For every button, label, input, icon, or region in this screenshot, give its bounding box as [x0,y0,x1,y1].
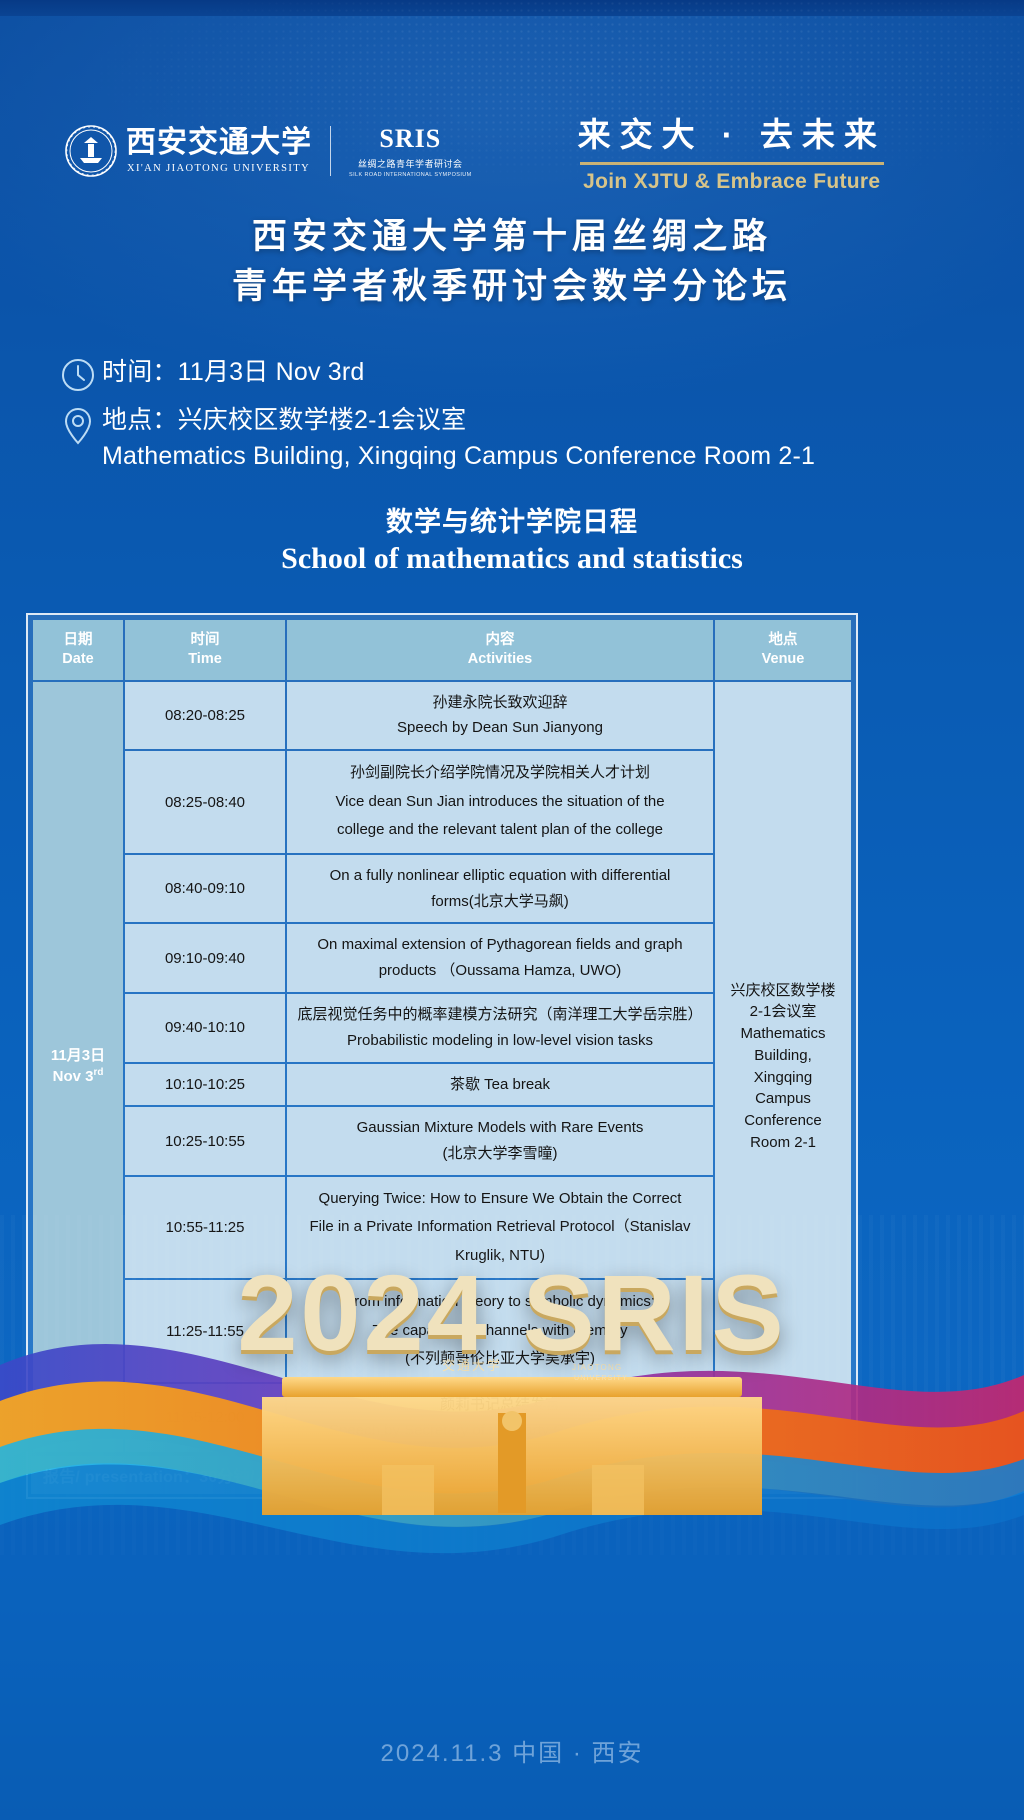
event-venue-row: 地点：兴庆校区数学楼2-1会议室 Mathematics Building, X… [54,403,974,474]
venue-line: Room 2-1 [719,1132,847,1154]
column-header-activities: 内容 Activities [287,620,713,680]
cell-time: 09:10-09:40 [125,924,285,992]
table-header-row: 日期 Date 时间 Time 内容 Activities 地点 Venue [33,620,851,680]
event-venue-text: 地点：兴庆校区数学楼2-1会议室 Mathematics Building, X… [102,403,815,474]
cell-time: 10:10-10:25 [125,1064,285,1106]
cell-time: 08:40-09:10 [125,855,285,923]
xjtu-logo-lockup: 西安交通大学 XI'AN JIAOTONG UNIVERSITY SRIS 丝绸… [64,124,472,178]
activity-line: college and the relevant talent plan of … [297,816,703,845]
venue-line: Building, [719,1045,847,1067]
event-time-text: 时间：11月3日 Nov 3rd [102,355,365,391]
cell-activity: 茶歇 Tea break [287,1064,713,1106]
slogan-cn: 来交大 · 去未来 [578,108,886,156]
venue-line: 兴庆校区数学楼 [719,980,847,1002]
column-header-time-cn: 时间 [127,631,283,650]
cell-activity: On a fully nonlinear elliptic equation w… [287,855,713,923]
logo-divider [330,126,331,176]
cell-time: 08:20-08:25 [125,682,285,750]
activity-line: On maximal extension of Pythagorean fiel… [297,932,703,958]
activity-line: Probabilistic modeling in low-level visi… [297,1028,703,1054]
sris-logo: SRIS 丝绸之路青年学者研讨会 SILK ROAD INTERNATIONAL… [349,124,472,178]
event-info: 时间：11月3日 Nov 3rd 地点：兴庆校区数学楼2-1会议室 Mathem… [54,355,974,484]
university-name-cn: 西安交通大学 [126,128,312,158]
column-header-date: 日期 Date [33,620,123,680]
table-row: 11月3日Nov 3rd08:20-08:25孙建永院长致欢迎辞Speech b… [33,682,851,750]
column-header-venue: 地点 Venue [715,620,851,680]
column-header-activities-en: Activities [289,650,711,669]
column-header-venue-cn: 地点 [717,631,849,650]
column-header-activities-cn: 内容 [289,631,711,650]
activity-line: products （Oussama Hamza, UWO) [297,958,703,984]
year-mark: 2024 SRIS [0,1250,1024,1375]
activity-line: Gaussian Mixture Models with Rare Events [297,1115,703,1141]
event-venue-en: Mathematics Building, Xingqing Campus Co… [102,439,815,475]
cell-activity: Gaussian Mixture Models with Rare Events… [287,1107,713,1175]
schedule-heading-cn: 数学与统计学院日程 [0,500,1024,539]
activity-line: 茶歇 Tea break [297,1072,703,1098]
cell-time: 10:25-10:55 [125,1107,285,1175]
activity-line: 孙剑副院长介绍学院情况及学院相关人才计划 [297,759,703,788]
activity-line: Speech by Dean Sun Jianyong [297,715,703,741]
poster-canvas: 西安交通大学 XI'AN JIAOTONG UNIVERSITY SRIS 丝绸… [0,0,1024,1820]
poster-artwork: 2024 SRIS 交通大学 JIAOTONG UNIVERSITY 2024.… [0,1215,1024,1820]
poster-title-line1: 西安交通大学第十届丝绸之路 [0,212,1024,262]
cell-activity: On maximal extension of Pythagorean fiel… [287,924,713,992]
activity-line: (北京大学李雪曈) [297,1141,703,1167]
venue-line: Mathematics [719,1023,847,1045]
brand-header: 西安交通大学 XI'AN JIAOTONG UNIVERSITY SRIS 丝绸… [0,112,1024,190]
column-header-time: 时间 Time [125,620,285,680]
schedule-heading-en: School of mathematics and statistics [0,542,1024,576]
sris-mark: SRIS [349,124,472,154]
column-header-date-cn: 日期 [35,631,121,650]
activity-line: On a fully nonlinear elliptic equation w… [297,863,703,889]
cell-date-en: Nov 3rd [33,1066,123,1087]
location-pin-icon [54,403,102,449]
university-seal-icon [64,124,118,178]
poster-title-line2: 青年学者秋季研讨会数学分论坛 [0,262,1024,312]
slogan-block: 来交大 · 去未来 Join XJTU & Embrace Future [578,108,886,194]
event-venue-cn: 地点：兴庆校区数学楼2-1会议室 [102,403,815,439]
activity-line: Vice dean Sun Jian introduces the situat… [297,788,703,817]
cell-date-cn: 11月3日 [33,1046,123,1066]
university-name-en: XI'AN JIAOTONG UNIVERSITY [127,163,312,174]
schedule-heading: 数学与统计学院日程 School of mathematics and stat… [0,500,1024,576]
sris-name-cn: 丝绸之路青年学者研讨会 [349,157,472,170]
cell-time: 09:40-10:10 [125,994,285,1062]
cell-activity: 底层视觉任务中的概率建模方法研究（南洋理工大学岳宗胜）Probabilistic… [287,994,713,1062]
sris-name-en: SILK ROAD INTERNATIONAL SYMPOSIUM [349,172,472,178]
cell-activity: 孙建永院长致欢迎辞Speech by Dean Sun Jianyong [287,682,713,750]
column-header-venue-en: Venue [717,650,849,669]
university-gate-illustration: 交通大学 JIAOTONG UNIVERSITY [262,1355,762,1535]
column-header-date-en: Date [35,650,121,669]
clock-icon [54,355,102,393]
activity-line: Querying Twice: How to Ensure We Obtain … [297,1185,703,1214]
activity-line: forms(北京大学马飙) [297,889,703,915]
venue-line: Xingqing [719,1067,847,1089]
cell-activity: 孙剑副院长介绍学院情况及学院相关人才计划Vice dean Sun Jian i… [287,751,713,853]
cell-time: 08:25-08:40 [125,751,285,853]
event-time-row: 时间：11月3日 Nov 3rd [54,355,974,393]
column-header-time-en: Time [127,650,283,669]
slogan-rule [580,162,884,165]
slogan-en: Join XJTU & Embrace Future [578,170,886,194]
poster-title: 西安交通大学第十届丝绸之路 青年学者秋季研讨会数学分论坛 [0,212,1024,311]
top-dark-band [0,0,1024,16]
venue-line: 2-1会议室 [719,1001,847,1023]
activity-line: 孙建永院长致欢迎辞 [297,690,703,716]
svg-text:UNIVERSITY: UNIVERSITY [574,1375,628,1382]
venue-line: Conference [719,1110,847,1132]
venue-line: Campus [719,1088,847,1110]
activity-line: 底层视觉任务中的概率建模方法研究（南洋理工大学岳宗胜） [297,1002,703,1028]
